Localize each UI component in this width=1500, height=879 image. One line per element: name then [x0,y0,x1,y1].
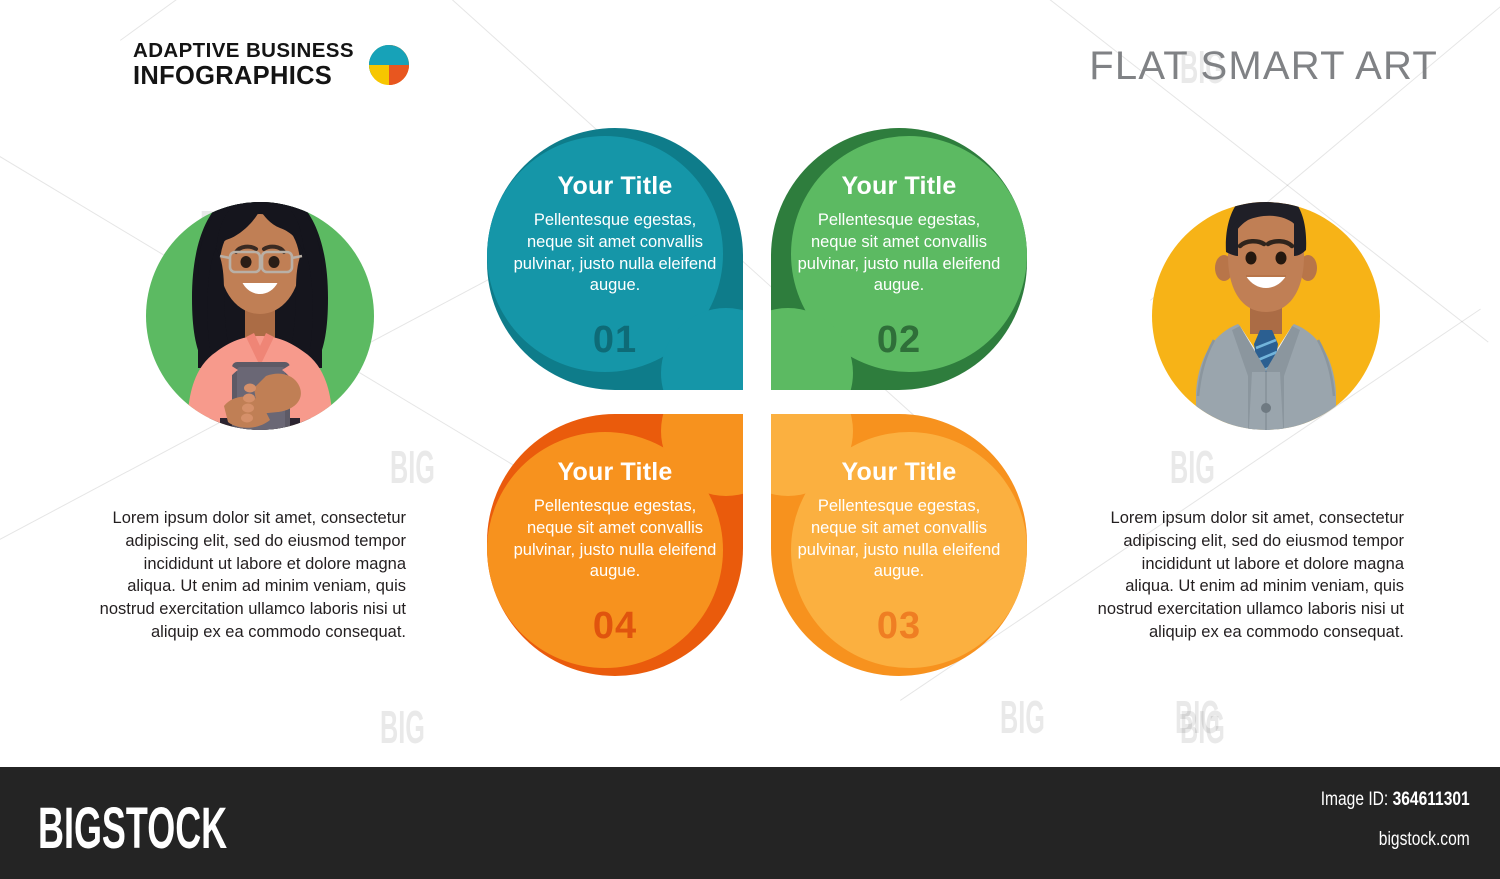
right-description-text: Lorem ipsum dolor sit amet, consectetur … [1092,507,1404,644]
footer-bar: BIGSTOCK Image ID: 364611301 bigstock.co… [0,767,1500,879]
businesswoman-illustration [146,180,374,445]
watermark-big: BIG [1000,690,1045,744]
brand-logo-line1: ADAPTIVE BUSINESS [133,41,354,62]
brand-logo: ADAPTIVE BUSINESS INFOGRAPHICS [133,41,410,89]
page-title: FLAT SMART ART [1089,44,1438,89]
footer-website[interactable]: bigstock.com [1321,829,1470,851]
watermark-big: BIG [1180,700,1225,754]
businessman-illustration [1152,180,1380,445]
watermark-big: BIG [1175,690,1220,744]
petal-item-02[interactable]: Your Title Pellentesque egestas, neque s… [771,128,1027,390]
image-id-label: Image ID: [1321,789,1389,810]
petal-item-04[interactable]: Your Title Pellentesque egestas, neque s… [487,414,743,676]
watermark-big: BIG [1170,440,1215,494]
petal-item-01[interactable]: Your Title Pellentesque egestas, neque s… [487,128,743,390]
image-id-row: Image ID: 364611301 [1321,789,1470,811]
infographic-slide: BIG BIG BIG BIG BIG BIG BIG BIG BIG ADAP… [0,0,1500,879]
pie-chart-icon [368,44,410,86]
watermark-big: BIG [380,700,425,754]
watermark-diagonal [120,0,541,41]
brand-logo-text: ADAPTIVE BUSINESS INFOGRAPHICS [133,41,354,89]
suit-button [1261,403,1271,413]
businesswoman-avatar [146,180,374,445]
footer-meta: Image ID: 364611301 bigstock.com [1288,789,1470,851]
suit-button [1261,433,1271,443]
businessman-avatar [1152,180,1380,445]
watermark-big: BIG [390,440,435,494]
petal-item-03[interactable]: Your Title Pellentesque egestas, neque s… [771,414,1027,676]
four-petal-diagram: Your Title Pellentesque egestas, neque s… [487,128,1027,676]
image-id-value: 364611301 [1393,789,1470,810]
left-description-text: Lorem ipsum dolor sit amet, consectetur … [94,507,406,644]
brand-logo-line2: INFOGRAPHICS [133,63,354,89]
bigstock-logo: BIGSTOCK [38,795,227,862]
